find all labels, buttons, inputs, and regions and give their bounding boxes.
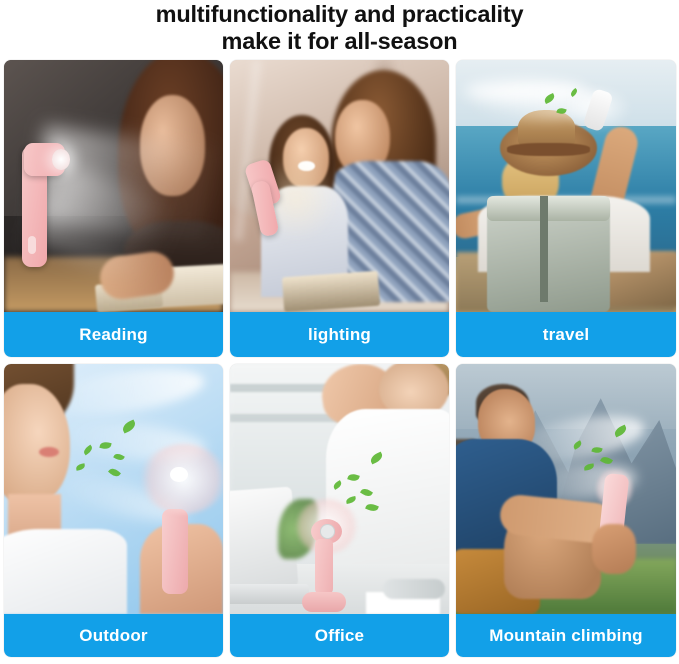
label-mountain-climbing: Mountain climbing — [456, 614, 676, 657]
use-case-card-outdoor[interactable]: Outdoor — [4, 364, 223, 657]
heading-line-2: make it for all-season — [0, 28, 679, 55]
label-outdoor: Outdoor — [4, 614, 223, 657]
photo-reading — [4, 60, 223, 312]
label-text-reading: Reading — [79, 325, 147, 345]
label-lighting: lighting — [230, 312, 449, 357]
label-reading: Reading — [4, 312, 223, 357]
photo-travel — [456, 60, 676, 312]
use-case-card-office[interactable]: Office — [230, 364, 449, 657]
use-case-card-travel[interactable]: travel — [456, 60, 676, 357]
use-case-grid: Reading lighting — [4, 60, 676, 657]
photo-office — [230, 364, 449, 614]
label-text-travel: travel — [543, 325, 590, 345]
label-text-lighting: lighting — [308, 325, 371, 345]
label-text-outdoor: Outdoor — [79, 626, 147, 646]
label-text-office: Office — [315, 626, 364, 646]
label-travel: travel — [456, 312, 676, 357]
label-office: Office — [230, 614, 449, 657]
use-case-card-mountain-climbing[interactable]: Mountain climbing — [456, 364, 676, 657]
page-heading: multifunctionality and practicality make… — [0, 0, 679, 55]
heading-line-1: multifunctionality and practicality — [0, 1, 679, 28]
photo-mountain-climbing — [456, 364, 676, 614]
label-text-mountain-climbing: Mountain climbing — [489, 626, 643, 646]
use-case-card-reading[interactable]: Reading — [4, 60, 223, 357]
photo-outdoor — [4, 364, 223, 614]
use-case-card-lighting[interactable]: lighting — [230, 60, 449, 357]
photo-lighting — [230, 60, 449, 312]
